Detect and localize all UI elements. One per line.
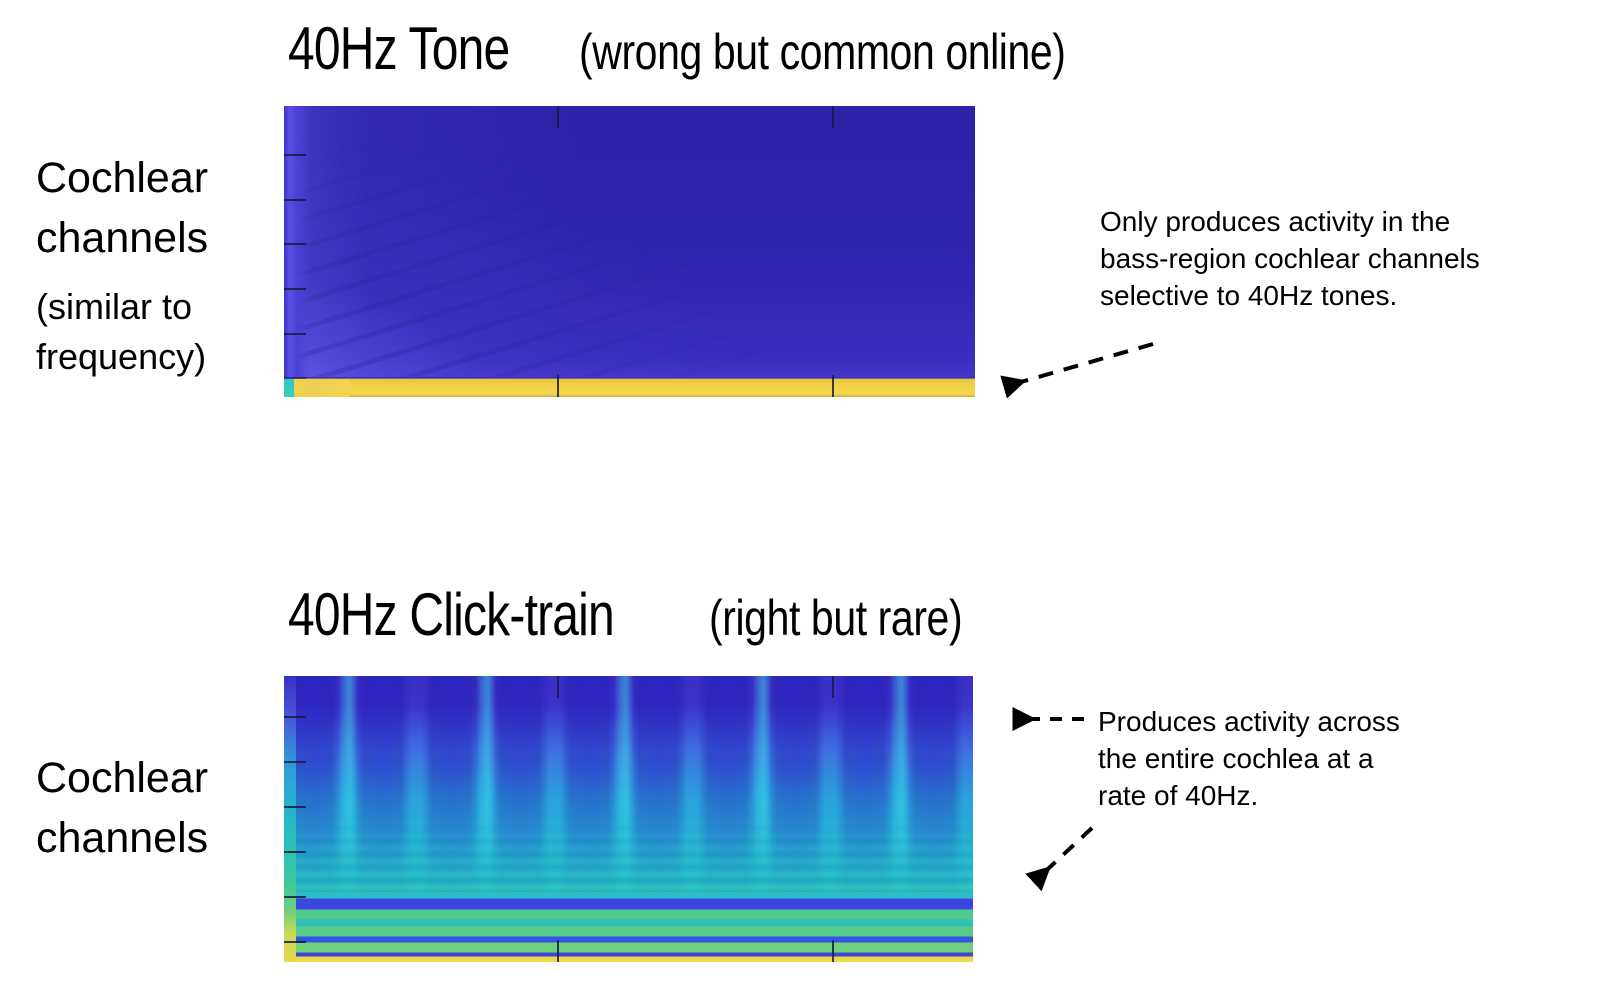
click-annotation: Produces activity across the entire coch… — [1098, 703, 1528, 814]
tone-ytick-3 — [284, 243, 306, 245]
tone-ylabel-line2: channels — [36, 208, 266, 268]
tone-bass-activity-band — [284, 377, 975, 397]
click-ytick-4 — [284, 851, 306, 853]
click-ylabel: Cochlear channels — [36, 748, 266, 868]
click-ytick-2 — [284, 761, 306, 763]
tone-cochleagram — [284, 106, 975, 397]
tone-xtick-bottom-2 — [832, 375, 834, 397]
click-annotation-line3: rate of 40Hz. — [1098, 777, 1528, 814]
tone-ylabel-note: (similar to frequency) — [36, 282, 276, 382]
tone-xtick-bottom-1 — [557, 375, 559, 397]
tone-annotation-line2: bass-region cochlear channels — [1100, 240, 1540, 277]
click-ylabel-line2: channels — [36, 808, 266, 868]
tone-ylabel-note-line2: frequency) — [36, 332, 276, 382]
click-annotation-arrow-left — [1002, 705, 1088, 735]
tone-ytick-4 — [284, 288, 306, 290]
click-xtick-top-1 — [557, 676, 559, 698]
click-xtick-bottom-2 — [832, 940, 834, 962]
tone-annotation: Only produces activity in the bass-regio… — [1100, 203, 1540, 314]
click-ytick-5 — [284, 896, 306, 898]
click-title-sub: (right but rare) — [709, 589, 962, 647]
tone-ytick-2 — [284, 199, 306, 201]
tone-xtick-top-1 — [557, 106, 559, 128]
click-ytick-1 — [284, 716, 306, 718]
tone-ytick-5 — [284, 333, 306, 335]
click-annotation-arrow-diagonal — [1020, 822, 1110, 894]
click-ytick-6 — [284, 941, 306, 943]
click-xtick-bottom-1 — [557, 940, 559, 962]
click-cochleagram — [284, 676, 973, 962]
tone-ylabel: Cochlear channels — [36, 148, 266, 268]
tone-title: 40Hz Tone(wrong but common online) — [288, 14, 1172, 83]
tone-ytick-6 — [284, 377, 306, 379]
tone-onset-bass-highlight — [294, 379, 350, 397]
tone-ylabel-note-line1: (similar to — [36, 282, 276, 332]
tone-xtick-top-2 — [832, 106, 834, 128]
click-title: 40Hz Click-train(right but rare) — [288, 580, 1018, 649]
tone-title-sub: (wrong but common online) — [579, 23, 1066, 81]
click-annotation-line2: the entire cochlea at a — [1098, 740, 1528, 777]
tone-onset-marker — [284, 379, 294, 397]
tone-annotation-line1: Only produces activity in the — [1100, 203, 1540, 240]
click-left-edge-column — [284, 676, 296, 962]
click-title-main: 40Hz Click-train — [288, 580, 614, 649]
click-xtick-top-2 — [832, 676, 834, 698]
tone-ytick-1 — [284, 154, 306, 156]
click-annotation-line1: Produces activity across — [1098, 703, 1528, 740]
tone-heatmap-ridges — [284, 106, 975, 397]
click-ytick-3 — [284, 806, 306, 808]
tone-annotation-line3: selective to 40Hz tones. — [1100, 277, 1540, 314]
tone-title-main: 40Hz Tone — [288, 14, 509, 83]
tone-ylabel-line1: Cochlear — [36, 148, 266, 208]
tone-heatmap-left-excitation — [284, 106, 310, 397]
tone-annotation-arrow — [985, 330, 1160, 398]
click-ylabel-line1: Cochlear — [36, 748, 266, 808]
click-bass-activity-bands — [284, 892, 973, 962]
